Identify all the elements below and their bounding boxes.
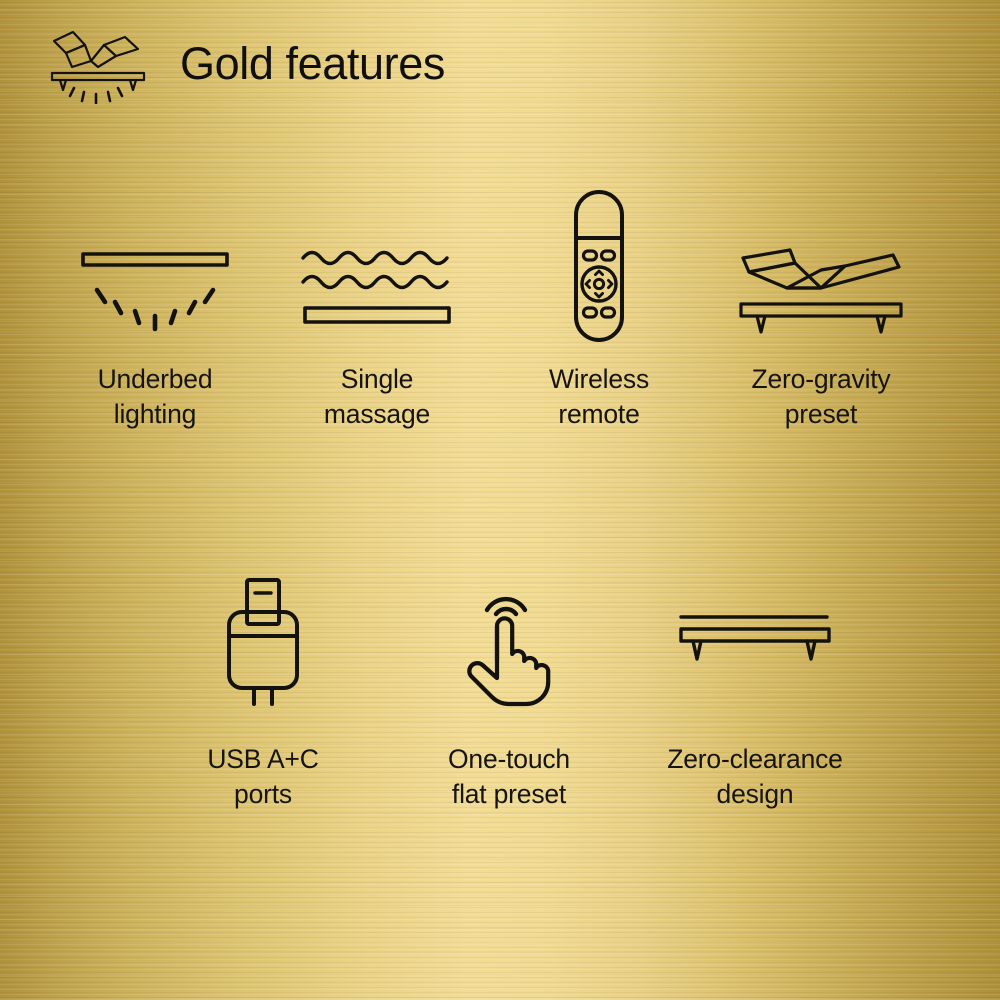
- zero-clearance-bed-icon: [677, 566, 833, 716]
- adjustable-bed-with-underbed-light-icon: [46, 26, 150, 104]
- gold-features-panel: Gold features: [0, 0, 1000, 1000]
- feature-underbed-lighting: Underbed lighting: [44, 186, 266, 432]
- page-title: Gold features: [180, 41, 445, 90]
- feature-label: Single massage: [324, 362, 430, 432]
- feature-row-1: Underbed lighting Single massage: [0, 186, 1000, 432]
- feature-zero-gravity-preset: Zero-gravity preset: [710, 186, 932, 432]
- underbed-lighting-icon: [73, 186, 237, 346]
- feature-row-2: USB A+C ports One-touch flat preset: [0, 566, 1000, 812]
- feature-one-touch-flat-preset: One-touch flat preset: [386, 566, 632, 812]
- panel-header: Gold features: [46, 26, 445, 104]
- feature-wireless-remote: Wireless remote: [488, 186, 710, 432]
- feature-label: Underbed lighting: [98, 362, 213, 432]
- feature-single-massage: Single massage: [266, 186, 488, 432]
- feature-zero-clearance-design: Zero-clearance design: [632, 566, 878, 812]
- one-touch-hand-icon: [457, 566, 561, 716]
- zero-gravity-bed-icon: [735, 186, 907, 346]
- feature-label: One-touch flat preset: [448, 742, 570, 812]
- feature-label: Zero-clearance design: [667, 742, 842, 812]
- feature-label: USB A+C ports: [207, 742, 318, 812]
- feature-label: Wireless remote: [549, 362, 649, 432]
- feature-usb-ports: USB A+C ports: [140, 566, 386, 812]
- massage-waves-icon: [295, 186, 459, 346]
- feature-label: Zero-gravity preset: [752, 362, 891, 432]
- wireless-remote-icon: [553, 186, 645, 346]
- usb-plug-icon: [213, 566, 313, 716]
